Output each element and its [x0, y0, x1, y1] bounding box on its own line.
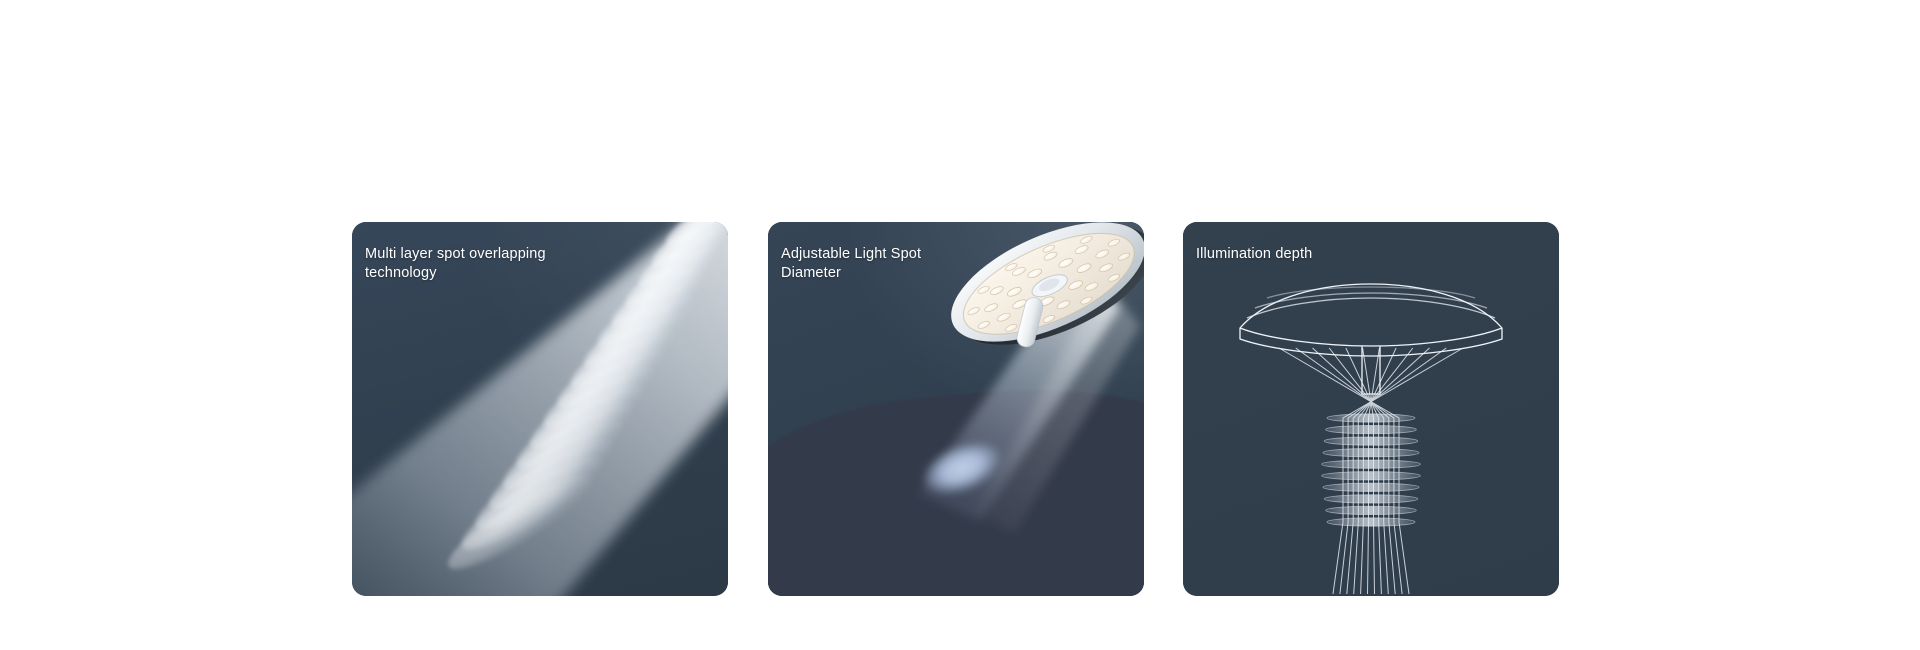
feature-card-adjustable-spot-diameter[interactable]: Adjustable Light Spot Diameter: [768, 222, 1144, 596]
feature-card-illumination-depth[interactable]: Illumination depth: [1183, 222, 1559, 596]
overlapping-spot-ellipses: [352, 222, 728, 596]
feature-card-multi-layer-spot[interactable]: Multi layer spot overlapping technology: [352, 222, 728, 596]
card-3-artwork: [1183, 222, 1559, 596]
surgical-lamp-head-icon: [928, 222, 1144, 379]
card-1-artwork: [352, 222, 728, 596]
feature-card-gallery: Multi layer spot overlapping technology: [0, 0, 1920, 650]
card-2-artwork: [768, 222, 1144, 596]
illumination-depth-wireframe: [1183, 222, 1559, 596]
